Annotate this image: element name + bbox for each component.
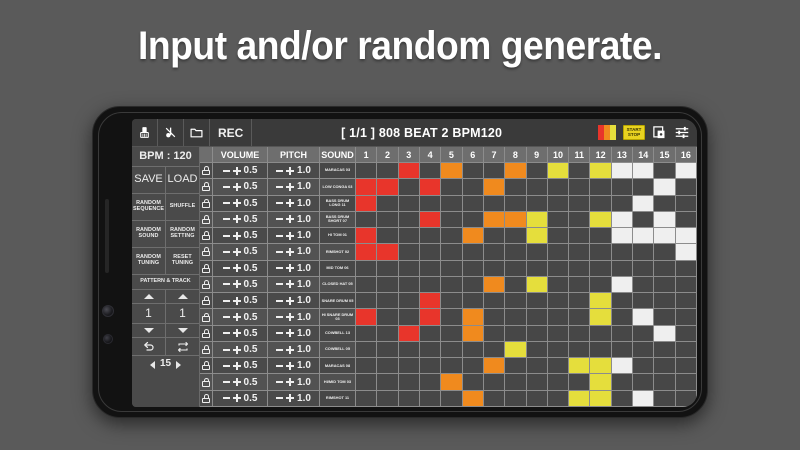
step-cell[interactable] (612, 163, 633, 179)
step-cell[interactable] (676, 358, 697, 374)
step-cell[interactable] (463, 244, 484, 260)
lock-toggle[interactable] (200, 163, 213, 179)
minus-icon[interactable] (276, 267, 283, 269)
step-cell[interactable] (633, 196, 654, 212)
step-cell[interactable] (633, 293, 654, 309)
step-number-16[interactable]: 16 (676, 147, 697, 163)
step-cell[interactable] (399, 293, 420, 309)
mixer-settings-icon[interactable] (674, 125, 690, 140)
step-cell[interactable] (505, 244, 526, 260)
step-cell[interactable] (612, 261, 633, 277)
step-cell[interactable] (420, 228, 441, 244)
step-cell[interactable] (676, 163, 697, 179)
step-cell[interactable] (463, 309, 484, 325)
step-cell[interactable] (441, 309, 462, 325)
step-cell[interactable] (441, 196, 462, 212)
step-cell[interactable] (463, 277, 484, 293)
step-number-8[interactable]: 8 (505, 147, 526, 163)
step-cell[interactable] (569, 326, 590, 342)
sound-selector[interactable]: RIMSHOT 11 (320, 391, 356, 407)
step-cell[interactable] (463, 196, 484, 212)
pitch-stepper[interactable]: 1.0 (268, 391, 320, 407)
pattern-decrement-button[interactable] (132, 324, 166, 337)
pitch-stepper[interactable]: 1.0 (268, 342, 320, 358)
step-cell[interactable] (463, 374, 484, 390)
chevron-right-icon[interactable] (176, 361, 181, 369)
minus-icon[interactable] (276, 349, 283, 351)
shuffle-button[interactable]: SHUFFLE (166, 194, 199, 220)
step-cell[interactable] (569, 293, 590, 309)
step-cell[interactable] (548, 196, 569, 212)
step-cell[interactable] (633, 179, 654, 195)
step-cell[interactable] (548, 293, 569, 309)
step-cell[interactable] (633, 342, 654, 358)
step-number-7[interactable]: 7 (484, 147, 505, 163)
step-cell[interactable] (399, 374, 420, 390)
step-cell[interactable] (590, 391, 611, 407)
step-cell[interactable] (569, 358, 590, 374)
lock-toggle[interactable] (200, 309, 213, 325)
sound-selector[interactable]: MID TOM 06 (320, 261, 356, 277)
plus-icon[interactable] (286, 378, 294, 386)
step-cell[interactable] (505, 326, 526, 342)
step-cell[interactable] (569, 277, 590, 293)
step-cell[interactable] (548, 326, 569, 342)
lock-toggle[interactable] (200, 244, 213, 260)
start-stop-button[interactable]: START STOP (623, 125, 645, 140)
lock-toggle[interactable] (200, 179, 213, 195)
step-cell[interactable] (527, 196, 548, 212)
step-cell[interactable] (548, 244, 569, 260)
step-cell[interactable] (569, 163, 590, 179)
step-cell[interactable] (548, 342, 569, 358)
step-cell[interactable] (356, 228, 377, 244)
step-cell[interactable] (484, 277, 505, 293)
step-cell[interactable] (569, 196, 590, 212)
step-cell[interactable] (377, 293, 398, 309)
lock-toggle[interactable] (200, 358, 213, 374)
step-cell[interactable] (399, 163, 420, 179)
step-cell[interactable] (569, 212, 590, 228)
step-cell[interactable] (463, 179, 484, 195)
step-cell[interactable] (377, 326, 398, 342)
lock-toggle[interactable] (200, 374, 213, 390)
save-button[interactable]: SAVE (132, 167, 166, 193)
step-number-4[interactable]: 4 (420, 147, 441, 163)
step-cell[interactable] (484, 391, 505, 407)
step-cell[interactable] (399, 277, 420, 293)
plus-icon[interactable] (233, 232, 241, 240)
step-cell[interactable] (676, 293, 697, 309)
step-cell[interactable] (356, 277, 377, 293)
step-cell[interactable] (463, 326, 484, 342)
step-cell[interactable] (633, 391, 654, 407)
step-number-1[interactable]: 1 (356, 147, 377, 163)
step-cell[interactable] (505, 277, 526, 293)
volume-stepper[interactable]: 0.5 (213, 244, 268, 260)
step-cell[interactable] (484, 293, 505, 309)
step-cell[interactable] (676, 196, 697, 212)
step-cell[interactable] (441, 293, 462, 309)
plus-icon[interactable] (286, 297, 294, 305)
step-cell[interactable] (420, 391, 441, 407)
lock-toggle[interactable] (200, 293, 213, 309)
step-cell[interactable] (548, 163, 569, 179)
step-cell[interactable] (441, 391, 462, 407)
step-cell[interactable] (633, 358, 654, 374)
plus-icon[interactable] (233, 248, 241, 256)
pitch-stepper[interactable]: 1.0 (268, 196, 320, 212)
step-cell[interactable] (527, 374, 548, 390)
step-cell[interactable] (590, 293, 611, 309)
plus-icon[interactable] (233, 264, 241, 272)
step-cell[interactable] (441, 179, 462, 195)
step-cell[interactable] (377, 309, 398, 325)
plus-icon[interactable] (286, 346, 294, 354)
sound-selector[interactable]: RIMSHOT 02 (320, 244, 356, 260)
step-cell[interactable] (590, 212, 611, 228)
step-number-15[interactable]: 15 (654, 147, 675, 163)
step-cell[interactable] (548, 391, 569, 407)
step-cell[interactable] (633, 228, 654, 244)
minus-icon[interactable] (223, 283, 230, 285)
step-cell[interactable] (527, 391, 548, 407)
step-cell[interactable] (548, 358, 569, 374)
minus-icon[interactable] (276, 332, 283, 334)
step-cell[interactable] (441, 326, 462, 342)
step-cell[interactable] (654, 293, 675, 309)
step-cell[interactable] (505, 261, 526, 277)
minus-icon[interactable] (276, 381, 283, 383)
step-cell[interactable] (527, 212, 548, 228)
step-cell[interactable] (569, 391, 590, 407)
step-cell[interactable] (548, 309, 569, 325)
step-cell[interactable] (356, 342, 377, 358)
step-cell[interactable] (377, 196, 398, 212)
minus-icon[interactable] (223, 365, 230, 367)
step-cell[interactable] (420, 309, 441, 325)
step-cell[interactable] (633, 212, 654, 228)
step-cell[interactable] (463, 261, 484, 277)
plus-icon[interactable] (233, 346, 241, 354)
pitch-stepper[interactable]: 1.0 (268, 212, 320, 228)
sound-selector[interactable]: HI/MID TOM 03 (320, 374, 356, 390)
volume-stepper[interactable]: 0.5 (213, 374, 268, 390)
minus-icon[interactable] (276, 186, 283, 188)
step-cell[interactable] (590, 244, 611, 260)
step-cell[interactable] (377, 261, 398, 277)
plus-icon[interactable] (286, 264, 294, 272)
step-cell[interactable] (654, 228, 675, 244)
step-cell[interactable] (505, 309, 526, 325)
step-cell[interactable] (356, 179, 377, 195)
step-cell[interactable] (654, 196, 675, 212)
plus-icon[interactable] (233, 362, 241, 370)
step-cell[interactable] (463, 358, 484, 374)
sound-selector[interactable]: COWBELL 13 (320, 326, 356, 342)
lock-toggle[interactable] (200, 277, 213, 293)
step-cell[interactable] (505, 228, 526, 244)
step-cell[interactable] (441, 228, 462, 244)
minus-icon[interactable] (223, 186, 230, 188)
step-cell[interactable] (463, 163, 484, 179)
step-cell[interactable] (463, 342, 484, 358)
step-cell[interactable] (420, 212, 441, 228)
step-cell[interactable] (633, 163, 654, 179)
volume-stepper[interactable]: 0.5 (213, 212, 268, 228)
step-cell[interactable] (505, 391, 526, 407)
step-cell[interactable] (676, 228, 697, 244)
step-number-10[interactable]: 10 (548, 147, 569, 163)
step-cell[interactable] (654, 163, 675, 179)
step-cell[interactable] (420, 277, 441, 293)
step-cell[interactable] (377, 179, 398, 195)
volume-stepper[interactable]: 0.5 (213, 179, 268, 195)
step-cell[interactable] (484, 196, 505, 212)
step-cell[interactable] (356, 212, 377, 228)
pitch-stepper[interactable]: 1.0 (268, 358, 320, 374)
sound-selector[interactable]: HI SNARE DRUM 03 (320, 309, 356, 325)
step-cell[interactable] (633, 277, 654, 293)
step-cell[interactable] (420, 163, 441, 179)
step-cell[interactable] (463, 212, 484, 228)
step-cell[interactable] (612, 277, 633, 293)
plus-icon[interactable] (233, 329, 241, 337)
step-cell[interactable] (590, 163, 611, 179)
step-cell[interactable] (590, 196, 611, 212)
step-cell[interactable] (569, 261, 590, 277)
step-cell[interactable] (612, 374, 633, 390)
step-cell[interactable] (527, 244, 548, 260)
step-cell[interactable] (441, 244, 462, 260)
step-cell[interactable] (612, 342, 633, 358)
volume-stepper[interactable]: 0.5 (213, 261, 268, 277)
step-cell[interactable] (441, 163, 462, 179)
chevron-left-icon[interactable] (150, 361, 155, 369)
plus-icon[interactable] (286, 394, 294, 402)
sound-selector[interactable]: HI TOM 01 (320, 228, 356, 244)
step-cell[interactable] (590, 228, 611, 244)
step-cell[interactable] (484, 244, 505, 260)
step-cell[interactable] (569, 179, 590, 195)
step-cell[interactable] (441, 212, 462, 228)
step-cell[interactable] (676, 326, 697, 342)
volume-stepper[interactable]: 0.5 (213, 228, 268, 244)
track-increment-button[interactable] (166, 290, 199, 303)
pitch-stepper[interactable]: 1.0 (268, 244, 320, 260)
plus-icon[interactable] (233, 313, 241, 321)
step-cell[interactable] (676, 277, 697, 293)
step-cell[interactable] (420, 244, 441, 260)
minus-icon[interactable] (223, 316, 230, 318)
step-cell[interactable] (377, 342, 398, 358)
random-setting-button[interactable]: RANDOM SETTING (166, 221, 199, 247)
step-cell[interactable] (399, 342, 420, 358)
step-cell[interactable] (505, 212, 526, 228)
sound-selector[interactable]: LOW CONGA 03 (320, 179, 356, 195)
minus-icon[interactable] (223, 300, 230, 302)
step-cell[interactable] (633, 326, 654, 342)
step-cell[interactable] (356, 293, 377, 309)
step-number-6[interactable]: 6 (463, 147, 484, 163)
step-cell[interactable] (505, 342, 526, 358)
step-cell[interactable] (654, 374, 675, 390)
lock-toggle[interactable] (200, 261, 213, 277)
step-cell[interactable] (377, 244, 398, 260)
rec-button[interactable]: REC (210, 119, 252, 146)
step-cell[interactable] (377, 391, 398, 407)
step-cell[interactable] (548, 228, 569, 244)
bpm-display[interactable]: BPM : 120 (132, 147, 199, 166)
step-cell[interactable] (399, 309, 420, 325)
step-cell[interactable] (676, 391, 697, 407)
step-cell[interactable] (654, 358, 675, 374)
step-cell[interactable] (484, 261, 505, 277)
minus-icon[interactable] (276, 397, 283, 399)
step-cell[interactable] (548, 261, 569, 277)
step-cell[interactable] (527, 261, 548, 277)
drum-brush-icon[interactable] (132, 119, 158, 146)
step-cell[interactable] (420, 261, 441, 277)
sound-selector[interactable]: MARACAS 03 (320, 163, 356, 179)
minus-icon[interactable] (276, 251, 283, 253)
minus-icon[interactable] (223, 381, 230, 383)
step-cell[interactable] (633, 244, 654, 260)
step-cell[interactable] (633, 309, 654, 325)
step-cell[interactable] (654, 179, 675, 195)
plus-icon[interactable] (233, 297, 241, 305)
sound-selector[interactable]: BASS DRUM LONG 11 (320, 196, 356, 212)
step-cell[interactable] (505, 179, 526, 195)
step-cell[interactable] (356, 309, 377, 325)
step-cell[interactable] (399, 261, 420, 277)
step-cell[interactable] (420, 342, 441, 358)
step-cell[interactable] (590, 374, 611, 390)
step-cell[interactable] (654, 277, 675, 293)
step-cell[interactable] (548, 212, 569, 228)
random-sound-button[interactable]: RANDOM SOUND (132, 221, 166, 247)
pattern-increment-button[interactable] (132, 290, 166, 303)
step-cell[interactable] (527, 309, 548, 325)
step-cell[interactable] (463, 391, 484, 407)
step-cell[interactable] (356, 244, 377, 260)
step-cell[interactable] (377, 163, 398, 179)
plus-icon[interactable] (233, 280, 241, 288)
step-cell[interactable] (569, 309, 590, 325)
volume-stepper[interactable]: 0.5 (213, 391, 268, 407)
plus-icon[interactable] (286, 362, 294, 370)
step-cell[interactable] (654, 391, 675, 407)
plus-icon[interactable] (233, 183, 241, 191)
step-cell[interactable] (356, 391, 377, 407)
minus-icon[interactable] (276, 202, 283, 204)
step-cell[interactable] (676, 179, 697, 195)
step-cell[interactable] (612, 293, 633, 309)
step-cell[interactable] (356, 358, 377, 374)
plus-icon[interactable] (233, 378, 241, 386)
step-cell[interactable] (654, 326, 675, 342)
minus-icon[interactable] (276, 235, 283, 237)
step-cell[interactable] (590, 342, 611, 358)
step-cell[interactable] (420, 358, 441, 374)
plus-icon[interactable] (286, 280, 294, 288)
minus-icon[interactable] (276, 300, 283, 302)
step-cell[interactable] (654, 309, 675, 325)
step-cell[interactable] (356, 163, 377, 179)
step-cell[interactable] (420, 374, 441, 390)
lock-toggle[interactable] (200, 391, 213, 407)
sound-selector[interactable]: BASS DRUM SHORT 07 (320, 212, 356, 228)
step-cell[interactable] (676, 244, 697, 260)
step-cell[interactable] (463, 228, 484, 244)
step-cell[interactable] (527, 228, 548, 244)
step-cell[interactable] (441, 277, 462, 293)
step-cell[interactable] (612, 326, 633, 342)
load-button[interactable]: LOAD (166, 167, 199, 193)
step-cell[interactable] (654, 342, 675, 358)
step-cell[interactable] (590, 309, 611, 325)
step-cell[interactable] (548, 277, 569, 293)
step-cell[interactable] (633, 374, 654, 390)
random-tuning-button[interactable]: RANDOM TUNING (132, 248, 166, 274)
plus-icon[interactable] (233, 215, 241, 223)
step-cell[interactable] (356, 326, 377, 342)
step-cell[interactable] (612, 196, 633, 212)
metronome-mute-icon[interactable] (158, 119, 184, 146)
step-cell[interactable] (399, 212, 420, 228)
step-cell[interactable] (654, 244, 675, 260)
step-cell[interactable] (356, 374, 377, 390)
minus-icon[interactable] (223, 349, 230, 351)
minus-icon[interactable] (223, 267, 230, 269)
minus-icon[interactable] (276, 316, 283, 318)
folder-icon[interactable] (184, 119, 210, 146)
lock-toggle[interactable] (200, 212, 213, 228)
step-cell[interactable] (612, 358, 633, 374)
step-cell[interactable] (527, 326, 548, 342)
minus-icon[interactable] (276, 170, 283, 172)
step-cell[interactable] (484, 358, 505, 374)
step-cell[interactable] (377, 358, 398, 374)
step-cell[interactable] (377, 277, 398, 293)
minus-icon[interactable] (276, 218, 283, 220)
step-cell[interactable] (654, 212, 675, 228)
minus-icon[interactable] (223, 235, 230, 237)
step-cell[interactable] (463, 293, 484, 309)
volume-stepper[interactable]: 0.5 (213, 309, 268, 325)
step-cell[interactable] (441, 342, 462, 358)
step-cell[interactable] (676, 374, 697, 390)
sound-selector[interactable]: SNARE DRUM 05 (320, 293, 356, 309)
step-cell[interactable] (676, 342, 697, 358)
pitch-stepper[interactable]: 1.0 (268, 293, 320, 309)
minus-icon[interactable] (223, 218, 230, 220)
volume-stepper[interactable]: 0.5 (213, 342, 268, 358)
step-number-12[interactable]: 12 (590, 147, 611, 163)
step-cell[interactable] (612, 228, 633, 244)
step-cell[interactable] (420, 326, 441, 342)
plus-icon[interactable] (286, 248, 294, 256)
step-cell[interactable] (569, 342, 590, 358)
step-cell[interactable] (569, 244, 590, 260)
minus-icon[interactable] (276, 365, 283, 367)
step-cell[interactable] (676, 309, 697, 325)
step-number-14[interactable]: 14 (633, 147, 654, 163)
step-cell[interactable] (505, 163, 526, 179)
plus-icon[interactable] (286, 329, 294, 337)
step-cell[interactable] (505, 196, 526, 212)
step-number-5[interactable]: 5 (441, 147, 462, 163)
